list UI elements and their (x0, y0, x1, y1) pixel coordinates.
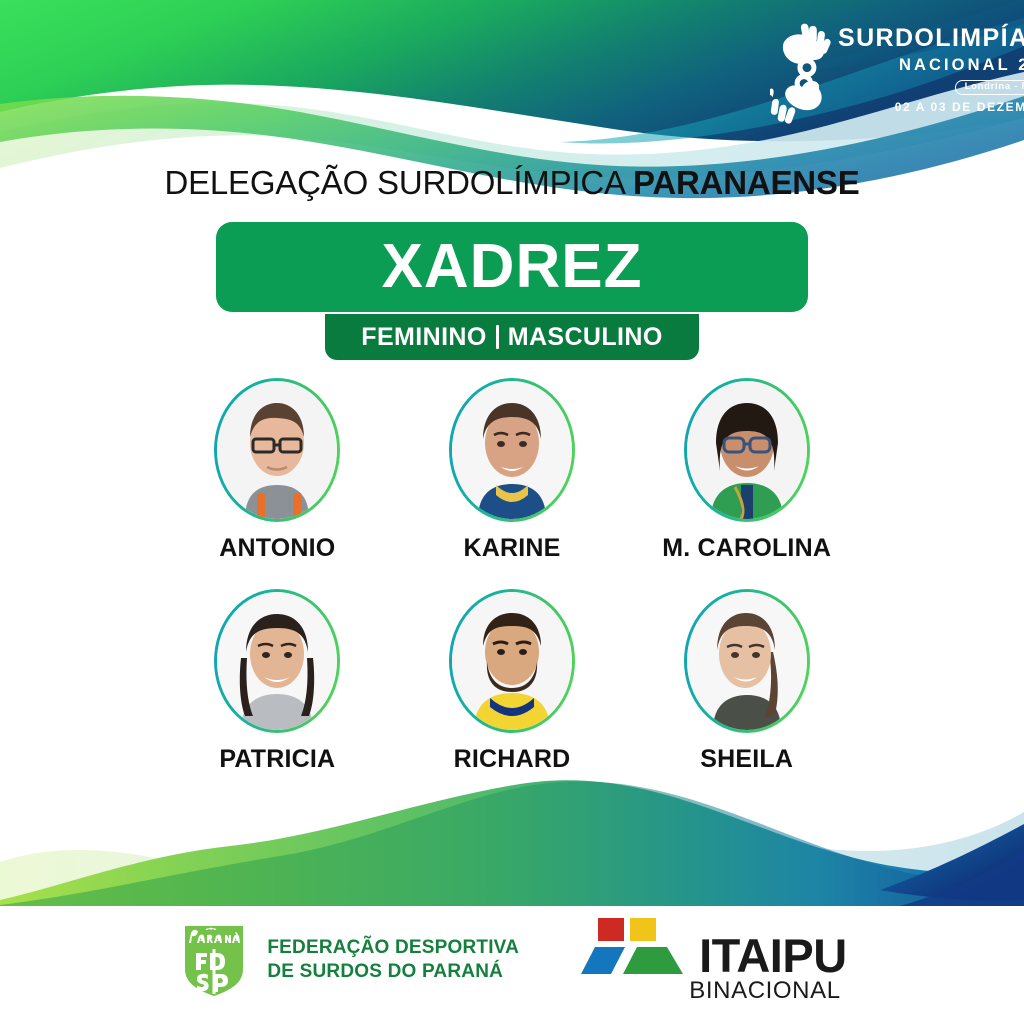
portrait-antonio-icon (217, 381, 337, 519)
avatar (217, 381, 337, 519)
athlete-name: KARINE (463, 536, 560, 561)
athlete-grid: ANTONIO (160, 378, 864, 772)
itaipu-logo-row: ITAIPU (581, 918, 847, 976)
itaipu-word: ITAIPU (699, 937, 847, 976)
page-title: DELEGAÇÃO SURDOLÍMPICA PARANAENSE (0, 166, 1024, 199)
sport-name: XADREZ (382, 236, 643, 298)
event-location-badge: Londrina - Paraná (955, 80, 1024, 96)
itaipu-logo: ITAIPU BINACIONAL (581, 918, 847, 1003)
avatar (217, 592, 337, 730)
athlete-card[interactable]: M. CAROLINA (629, 378, 864, 561)
event-date: 02 A 03 DE DEZEMBRO (895, 101, 1024, 113)
fdsp-shield-icon (177, 919, 251, 1001)
fdsp-line-2: DE SURDOS DO PARANÁ (267, 960, 519, 984)
avatar-ring (214, 378, 340, 522)
portrait-patricia-icon (217, 592, 337, 730)
event-logo: SURDOLIMPÍADA NACIONAL 2023 Londrina - P… (770, 14, 1010, 134)
event-logo-title: SURDOLIMPÍADA (838, 26, 1024, 51)
avatar-ring (684, 378, 810, 522)
category-bar: FEMININO MASCULINO (325, 314, 699, 360)
athlete-name: PATRICIA (219, 747, 335, 772)
sport-banner: XADREZ (216, 222, 808, 312)
category-text: FEMININO MASCULINO (361, 325, 662, 350)
athlete-card[interactable]: RICHARD (395, 589, 630, 772)
fdsp-text: FEDERAÇÃO DESPORTIVA DE SURDOS DO PARANÁ (267, 936, 519, 984)
athlete-name: SHEILA (700, 747, 793, 772)
page-title-emphasis: PARANAENSE (633, 164, 860, 201)
itaipu-mark-icon (581, 918, 689, 976)
athlete-card[interactable]: ANTONIO (160, 378, 395, 561)
two-hands-icon (770, 16, 834, 128)
category-masculino: MASCULINO (508, 325, 663, 350)
category-separator-icon (496, 325, 499, 349)
avatar (452, 592, 572, 730)
athlete-name: ANTONIO (219, 536, 335, 561)
portrait-sheila-icon (687, 592, 807, 730)
avatar-ring (449, 378, 575, 522)
category-feminino: FEMININO (361, 325, 486, 350)
page-title-prefix: DELEGAÇÃO SURDOLÍMPICA (164, 164, 633, 201)
fdsp-logo: FEDERAÇÃO DESPORTIVA DE SURDOS DO PARANÁ (177, 919, 519, 1001)
event-logo-subtitle: NACIONAL 2023 (899, 57, 1024, 74)
athlete-name: RICHARD (454, 747, 571, 772)
portrait-richard-icon (452, 592, 572, 730)
athlete-card[interactable]: PATRICIA (160, 589, 395, 772)
avatar (687, 592, 807, 730)
poster-canvas: SURDOLIMPÍADA NACIONAL 2023 Londrina - P… (0, 0, 1024, 1024)
athlete-card[interactable]: KARINE (395, 378, 630, 561)
avatar (452, 381, 572, 519)
avatar-ring (684, 589, 810, 733)
event-date-text: 02 A 03 DE DEZEMBRO (895, 101, 1024, 113)
portrait-m-carolina-icon (687, 381, 807, 519)
portrait-karine-icon (452, 381, 572, 519)
athlete-name: M. CAROLINA (662, 536, 831, 561)
athlete-card[interactable]: SHEILA (629, 589, 864, 772)
footer-logos: FEDERAÇÃO DESPORTIVA DE SURDOS DO PARANÁ… (0, 905, 1024, 1015)
fdsp-line-1: FEDERAÇÃO DESPORTIVA (267, 936, 519, 960)
avatar-ring (449, 589, 575, 733)
itaipu-tagline: BINACIONAL (689, 979, 840, 1003)
avatar (687, 381, 807, 519)
avatar-ring (214, 589, 340, 733)
